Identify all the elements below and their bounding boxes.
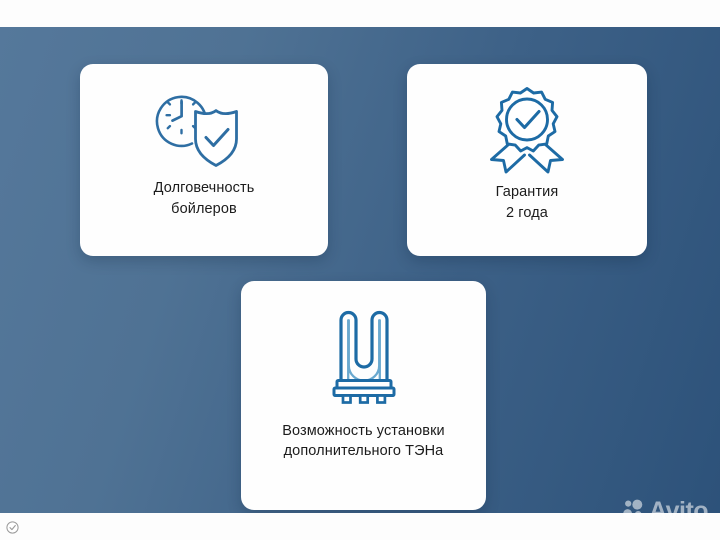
feature-card-heating-element[interactable]: Возможность установки дополнительного ТЭ…: [241, 281, 486, 510]
screenshot-root: Долговечность бойлеров Гарантия 2 года: [0, 0, 720, 540]
heating-element-icon: [327, 305, 401, 410]
award-ribbon-icon: [479, 85, 575, 182]
feature-card-durability[interactable]: Долговечность бойлеров: [80, 64, 328, 256]
verified-check-icon: [6, 521, 19, 534]
feature-card-label: Возможность установки дополнительного ТЭ…: [282, 421, 445, 510]
promo-canvas: Долговечность бойлеров Гарантия 2 года: [0, 27, 720, 513]
feature-card-label: Гарантия 2 года: [496, 182, 559, 267]
feature-card-label: Долговечность бойлеров: [154, 178, 255, 263]
feature-card-warranty[interactable]: Гарантия 2 года: [407, 64, 647, 256]
letterbox-top: [0, 0, 720, 27]
clock-shield-icon: [153, 85, 255, 178]
letterbox-bottom: [0, 513, 720, 540]
